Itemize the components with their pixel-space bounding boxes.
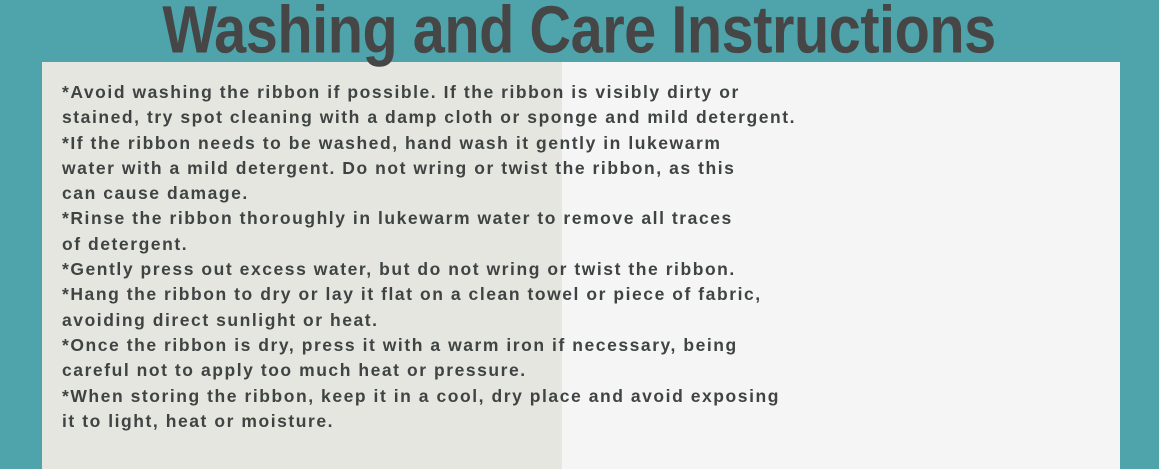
- instruction-line: *If the ribbon needs to be washed, hand …: [62, 131, 1122, 156]
- instruction-line: can cause damage.: [62, 181, 1122, 206]
- page-title: Washing and Care Instructions: [163, 0, 996, 64]
- instruction-line: *Hang the ribbon to dry or lay it flat o…: [62, 282, 1122, 307]
- instruction-line: water with a mild detergent. Do not wrin…: [62, 156, 1122, 181]
- instruction-line: *Gently press out excess water, but do n…: [62, 257, 1122, 282]
- instruction-line: *Avoid washing the ribbon if possible. I…: [62, 80, 1122, 105]
- instructions-text-block: *Avoid washing the ribbon if possible. I…: [62, 80, 1122, 434]
- instruction-line: careful not to apply too much heat or pr…: [62, 358, 1122, 383]
- instruction-line: *When storing the ribbon, keep it in a c…: [62, 384, 1122, 409]
- care-instructions-poster: Washing and Care Instructions *Avoid was…: [0, 0, 1159, 469]
- instruction-line: stained, try spot cleaning with a damp c…: [62, 105, 1122, 130]
- instruction-line: *Rinse the ribbon thoroughly in lukewarm…: [62, 206, 1122, 231]
- instruction-line: it to light, heat or moisture.: [62, 409, 1122, 434]
- instruction-line: avoiding direct sunlight or heat.: [62, 308, 1122, 333]
- title-bar: Washing and Care Instructions: [0, 0, 1159, 62]
- instruction-line: of detergent.: [62, 232, 1122, 257]
- instruction-line: *Once the ribbon is dry, press it with a…: [62, 333, 1122, 358]
